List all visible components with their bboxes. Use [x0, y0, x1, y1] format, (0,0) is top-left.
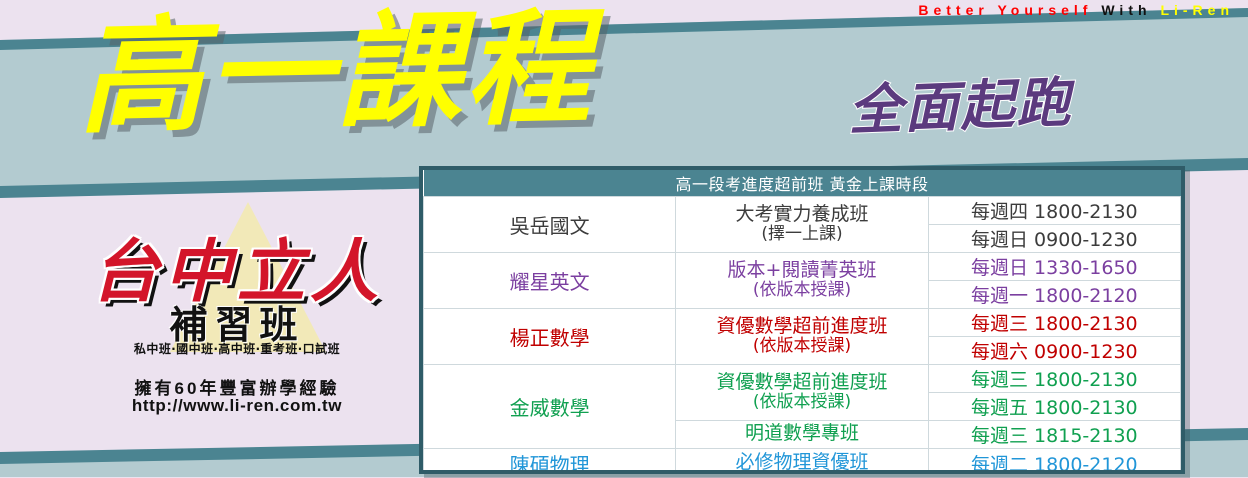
cell-time: 每週日 1330-1650 [928, 252, 1180, 280]
tagline: Better Yourself With Li-Ren [0, 2, 1248, 18]
page-title: 高一課程 [77, 3, 595, 144]
cell-teacher: 耀星英文 [424, 252, 676, 308]
schedule-table: 高一段考進度超前班 黃金上課時段 吳岳國文大考實力養成班(擇一上課)每週四 18… [423, 170, 1181, 474]
cell-course: 必修物理資優班 [676, 448, 928, 474]
tagline-part-better: Better Yourself [918, 2, 1101, 18]
cell-teacher: 吳岳國文 [424, 196, 676, 252]
tagline-part-with: With [1101, 2, 1160, 18]
cell-time: 每週三 1815-2130 [928, 420, 1180, 448]
cell-time: 每週四 1800-2130 [928, 196, 1180, 224]
cell-course: 大考實力養成班(擇一上課) [676, 196, 928, 252]
cell-time: 每週五 1800-2130 [928, 392, 1180, 420]
schedule-table-head: 高一段考進度超前班 黃金上課時段 [424, 170, 1181, 196]
cell-course-note: (依版本授課) [678, 281, 925, 300]
schedule-table-body: 吳岳國文大考實力養成班(擇一上課)每週四 1800-2130每週日 0900-1… [424, 196, 1181, 474]
cell-teacher: 楊正數學 [424, 308, 676, 364]
cell-time: 每週二 1800-2120 [928, 448, 1180, 474]
cell-time: 每週三 1800-2130 [928, 364, 1180, 392]
cell-teacher: 金威數學 [424, 364, 676, 448]
cell-course: 版本+閱讀菁英班(依版本授課) [676, 252, 928, 308]
cell-time: 每週六 0900-1230 [928, 336, 1180, 364]
schedule-table-frame: 高一段考進度超前班 黃金上課時段 吳岳國文大考實力養成班(擇一上課)每週四 18… [419, 166, 1185, 474]
table-row: 陳碩物理必修物理資優班每週二 1800-2120 [424, 448, 1181, 474]
cell-course: 資優數學超前進度班(依版本授課) [676, 364, 928, 420]
cell-course: 明道數學專班 [676, 420, 928, 448]
logo-website-url[interactable]: http://www.li-ren.com.tw [52, 396, 422, 416]
logo-class-list: 私中班‧國中班‧高中班‧重考班‧口試班 [52, 340, 422, 357]
table-row: 吳岳國文大考實力養成班(擇一上課)每週四 1800-2130 [424, 196, 1181, 224]
cell-course-note: (依版本授課) [678, 393, 925, 412]
cell-time: 每週日 0900-1230 [928, 224, 1180, 252]
cell-time: 每週三 1800-2130 [928, 308, 1180, 336]
cell-course-note: (依版本授課) [678, 337, 925, 356]
cell-time: 每週一 1800-2120 [928, 280, 1180, 308]
table-row: 耀星英文版本+閱讀菁英班(依版本授課)每週日 1330-1650 [424, 252, 1181, 280]
cell-course: 資優數學超前進度班(依版本授課) [676, 308, 928, 364]
table-row: 楊正數學資優數學超前進度班(依版本授課)每週三 1800-2130 [424, 308, 1181, 336]
page-subtitle: 全面起跑 [847, 58, 1074, 146]
cell-course-note: (擇一上課) [678, 225, 925, 244]
table-row: 金威數學資優數學超前進度班(依版本授課)每週三 1800-2130 [424, 364, 1181, 392]
logo: 台中立人 補習班 私中班‧國中班‧高中班‧重考班‧口試班 擁有60年豐富辦學經驗… [52, 196, 422, 426]
schedule-table-title: 高一段考進度超前班 黃金上課時段 [424, 170, 1181, 196]
tagline-part-brand: Li-Ren [1160, 2, 1234, 18]
cell-teacher: 陳碩物理 [424, 448, 676, 474]
table-header-row: 高一段考進度超前班 黃金上課時段 [424, 170, 1181, 196]
